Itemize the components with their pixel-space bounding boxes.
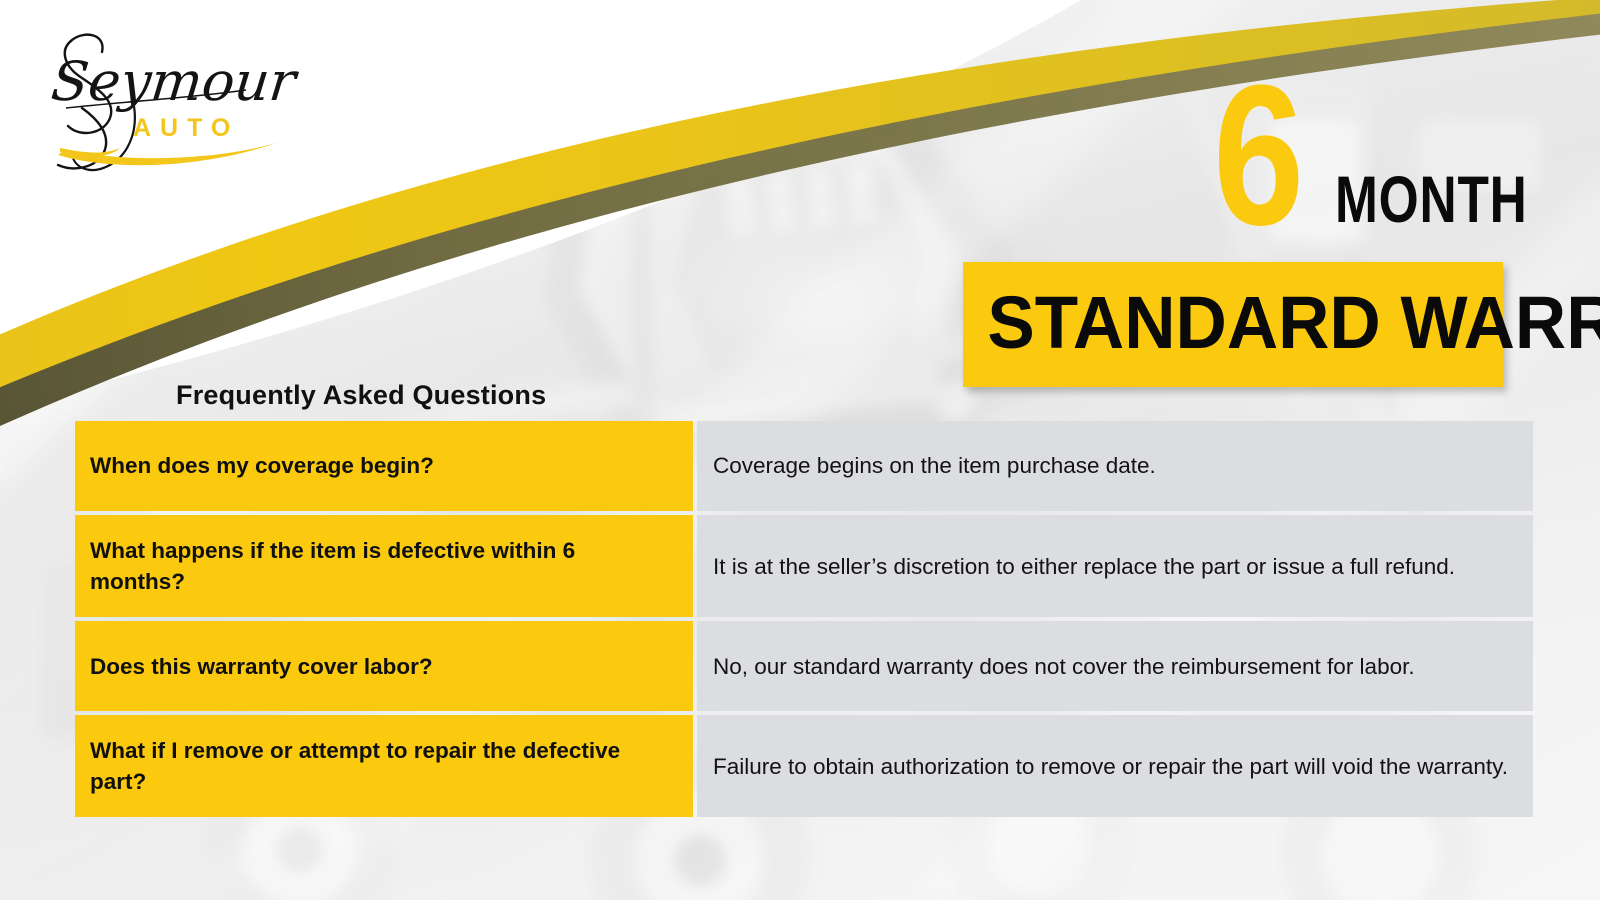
table-row: When does my coverage begin? Coverage be… (75, 421, 1533, 511)
faq-answer-cell: No, our standard warranty does not cover… (697, 621, 1533, 711)
faq-heading: Frequently Asked Questions (176, 380, 546, 411)
faq-answer-text: No, our standard warranty does not cover… (713, 651, 1513, 682)
faq-answer-text: Coverage begins on the item purchase dat… (713, 450, 1513, 481)
faq-answer-cell: It is at the seller’s discretion to eith… (697, 515, 1533, 617)
faq-question-cell: When does my coverage begin? (75, 421, 693, 511)
duration-number: 6 (1213, 56, 1299, 256)
faq-answer-cell: Coverage begins on the item purchase dat… (697, 421, 1533, 511)
faq-answer-text: Failure to obtain authorization to remov… (713, 751, 1513, 782)
warranty-slide: Seymour AUTO 6 MONTH STANDARD WARRANTY F… (0, 0, 1600, 900)
standard-warranty-title: STANDARD WARRANTY (987, 286, 1486, 360)
faq-answer-cell: Failure to obtain authorization to remov… (697, 715, 1533, 817)
warranty-duration: 6 MONTH (1195, 78, 1525, 253)
table-row: What if I remove or attempt to repair th… (75, 715, 1533, 817)
standard-warranty-banner: STANDARD WARRANTY (963, 262, 1503, 387)
faq-question-cell: What happens if the item is defective wi… (75, 515, 693, 617)
seymour-auto-logo: Seymour AUTO (30, 22, 330, 177)
faq-answer-text: It is at the seller’s discretion to eith… (713, 551, 1513, 582)
faq-question-cell: What if I remove or attempt to repair th… (75, 715, 693, 817)
faq-table: When does my coverage begin? Coverage be… (75, 421, 1533, 817)
faq-question-cell: Does this warranty cover labor? (75, 621, 693, 711)
svg-text:Seymour: Seymour (48, 50, 301, 113)
duration-unit: MONTH (1335, 166, 1528, 232)
table-row: Does this warranty cover labor? No, our … (75, 621, 1533, 711)
svg-text:AUTO: AUTO (133, 114, 239, 142)
table-row: What happens if the item is defective wi… (75, 515, 1533, 617)
